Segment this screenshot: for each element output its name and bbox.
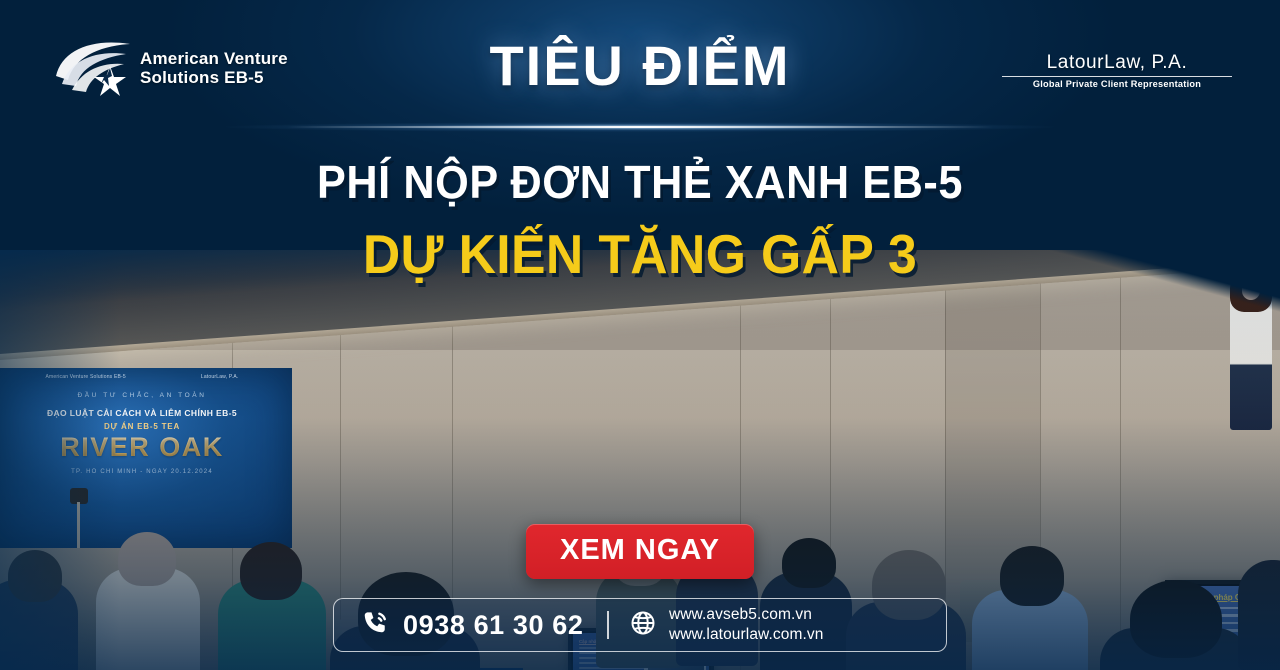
headline-line-2: DỰ KIẾN TĂNG GẤP 3: [38, 222, 1241, 286]
headline-line-1: PHÍ NỘP ĐƠN THẺ XANH EB-5: [38, 155, 1241, 209]
contact-bar: 0938 61 30 62 www.avseb5.com.vn www.lato…: [333, 598, 947, 652]
promo-banner: American Venture Solutions EB-5 LatourLa…: [0, 0, 1280, 670]
backdrop-logo-right: LatourLaw, P.A.: [201, 374, 239, 380]
audience-body: [1238, 560, 1280, 670]
website-url-1[interactable]: www.avseb5.com.vn: [669, 606, 812, 623]
phone-number: 0938 61 30 62: [403, 610, 583, 641]
glow-divider: [220, 119, 1060, 135]
audience-head: [1130, 580, 1222, 658]
speaker-face: [1242, 278, 1260, 300]
website-url-2[interactable]: www.latourlaw.com.vn: [669, 626, 823, 643]
backdrop-line-5: TP. HỒ CHÍ MINH - NGÀY 20.12.2024: [0, 469, 292, 475]
audience-head: [240, 542, 302, 600]
contact-separator: [607, 611, 609, 639]
website-block[interactable]: www.avseb5.com.vn www.latourlaw.com.vn: [629, 605, 823, 645]
audience-head: [8, 550, 62, 602]
kicker-title: TIÊU ĐIỂM: [0, 33, 1280, 98]
phone-icon: [360, 608, 390, 643]
stage-light-pole: [77, 502, 80, 548]
website-urls: www.avseb5.com.vn www.latourlaw.com.vn: [669, 605, 823, 645]
stage-backdrop: American Venture Solutions EB-5 LatourLa…: [0, 368, 292, 548]
globe-icon: [629, 609, 657, 642]
audience-head: [782, 538, 836, 588]
audience-head: [1000, 546, 1064, 606]
audience-head: [118, 532, 176, 586]
phone-block[interactable]: 0938 61 30 62: [334, 608, 583, 643]
backdrop-line-2: ĐẠO LUẬT CẢI CÁCH VÀ LIÊM CHÍNH EB-5: [0, 408, 292, 418]
backdrop-line-3: DỰ ÁN EB-5 TEA: [0, 422, 292, 431]
backdrop-line-1: ĐẦU TƯ CHẮC, AN TOÀN: [0, 392, 292, 399]
backdrop-project-name: RIVER OAK: [0, 432, 292, 463]
backdrop-logo-left: American Venture Solutions EB-5: [45, 374, 125, 380]
cta-button[interactable]: XEM NGAY: [526, 524, 754, 579]
